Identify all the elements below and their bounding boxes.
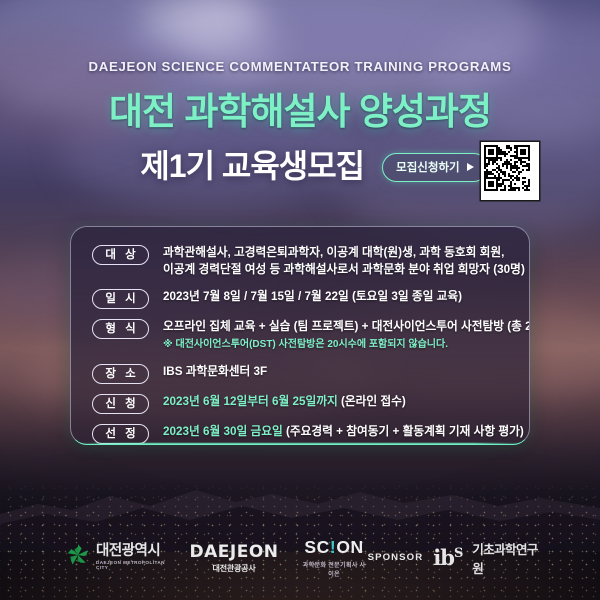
info-row: 대 상과학관해설사, 고경력은퇴과학자, 이공계 대학(원)생, 과학 동호회 … — [92, 244, 509, 278]
logo-daejeon-metropolitan-city[interactable]: 대전광역시 DAEJEON METROPOLITAN CITY — [66, 543, 168, 572]
page-title: 대전 과학해설사 양성과정 — [0, 81, 600, 135]
info-row: 신 청2023년 6월 12일부터 6월 25일까지 (온라인 접수) — [92, 393, 509, 414]
info-row: 선 정2023년 6월 30일 금요일 (주요경력 + 참여동기 + 활동계획 … — [92, 423, 509, 444]
logo-wordmark: DAEJEON — [190, 542, 279, 562]
sponsor-name: 기초과학연구원 — [472, 539, 538, 577]
info-row: 형 식오프라인 집체 교육 + 실습 (팀 프로젝트) + 대전사이언스투어 사… — [92, 318, 509, 353]
info-row-value: 2023년 7월 8일 / 7월 15일 / 7월 22일 (토요일 3일 종일… — [163, 288, 509, 305]
info-row: 장 소IBS 과학문화센터 3F — [92, 363, 509, 384]
info-row-value: 오프라인 집체 교육 + 실습 (팀 프로젝트) + 대전사이언스투어 사전탐방… — [163, 318, 530, 353]
info-row-line: IBS 과학문화센터 3F — [163, 363, 509, 380]
play-triangle-icon — [467, 163, 474, 171]
apply-button[interactable]: 모집신청하기 — [382, 153, 487, 182]
info-row-label: 선 정 — [92, 424, 149, 444]
apply-button-label: 모집신청하기 — [396, 159, 459, 175]
info-row-line: 이공계 경력단절 여성 등 과학해설사로서 과학문화 분야 취업 희망자 (30… — [163, 261, 525, 278]
logo-scion[interactable]: SC!ON 과학문화 전문기획사 사이온 — [301, 537, 368, 578]
info-row-label: 형 식 — [92, 319, 149, 339]
poster-canvas: DAEJEON SCIENCE COMMENTATEOR TRAINING PR… — [0, 0, 600, 600]
sponsor-block: SPONSOR ibS 기초과학연구원 — [368, 539, 538, 577]
info-row-line: 2023년 6월 12일부터 6월 25일까지 (온라인 접수) — [163, 393, 509, 410]
footer-logos: 대전광역시 DAEJEON METROPOLITAN CITY DAEJEON … — [0, 537, 600, 578]
logo-label-kr: 대전광역시 — [96, 544, 168, 559]
info-row-line: ※ 대전사이언스투어(DST) 사전탐방은 20시수에 포함되지 않습니다. — [163, 336, 530, 353]
info-row: 일 시2023년 7월 8일 / 7월 15일 / 7월 22일 (토요일 3일… — [92, 288, 509, 309]
info-row-line-suffix: (온라인 접수) — [338, 395, 406, 408]
logo-label-kr: 과학문화 전문기획사 사이온 — [301, 560, 368, 578]
info-row-value: IBS 과학문화센터 3F — [163, 363, 509, 380]
info-row-value: 2023년 6월 12일부터 6월 25일까지 (온라인 접수) — [163, 393, 509, 410]
info-row-line: 과학관해설사, 고경력은퇴과학자, 이공계 대학(원)생, 과학 동호회 회원, — [163, 244, 525, 261]
ibs-logo[interactable]: ibS — [433, 548, 462, 568]
info-row-label: 신 청 — [92, 394, 149, 414]
mountain-ridge-far — [0, 470, 600, 540]
page-subtitle: 제1기 교육생모집 — [140, 141, 364, 187]
info-row-label: 대 상 — [92, 245, 149, 265]
info-row-line: 2023년 6월 30일 금요일 (주요경력 + 참여동기 + 활동계획 기재 … — [163, 423, 524, 440]
eyebrow-text: DAEJEON SCIENCE COMMENTATEOR TRAINING PR… — [0, 59, 600, 74]
logo-wordmark: SC!ON — [304, 537, 363, 558]
info-row-label: 장 소 — [92, 364, 149, 384]
organizer-logos: 대전광역시 DAEJEON METROPOLITAN CITY DAEJEON … — [66, 537, 368, 578]
logo-label-kr: 대전관광공사 — [213, 563, 256, 574]
sponsor-label: SPONSOR — [368, 552, 424, 563]
info-row-line: 오프라인 집체 교육 + 실습 (팀 프로젝트) + 대전사이언스투어 사전탐방… — [163, 318, 530, 335]
pinwheel-icon — [66, 543, 90, 572]
logo-label-en: DAEJEON METROPOLITAN CITY — [96, 561, 168, 571]
info-row-line: 2023년 7월 8일 / 7월 15일 / 7월 22일 (토요일 3일 종일… — [163, 288, 509, 305]
info-row-value: 과학관해설사, 고경력은퇴과학자, 이공계 대학(원)생, 과학 동호회 회원,… — [163, 244, 525, 278]
qr-code-icon[interactable] — [481, 142, 539, 200]
info-rows: 대 상과학관해설사, 고경력은퇴과학자, 이공계 대학(원)생, 과학 동호회 … — [71, 227, 529, 444]
info-row-line-suffix: (주요경력 + 참여동기 + 활동계획 기재 사항 평가) — [283, 425, 524, 438]
logo-daejeon-tourism[interactable]: DAEJEON 대전관광공사 — [190, 542, 279, 574]
info-row-value: 2023년 6월 30일 금요일 (주요경력 + 참여동기 + 활동계획 기재 … — [163, 423, 524, 440]
info-panel: 대 상과학관해설사, 고경력은퇴과학자, 이공계 대학(원)생, 과학 동호회 … — [70, 226, 530, 445]
info-row-label: 일 시 — [92, 289, 149, 309]
